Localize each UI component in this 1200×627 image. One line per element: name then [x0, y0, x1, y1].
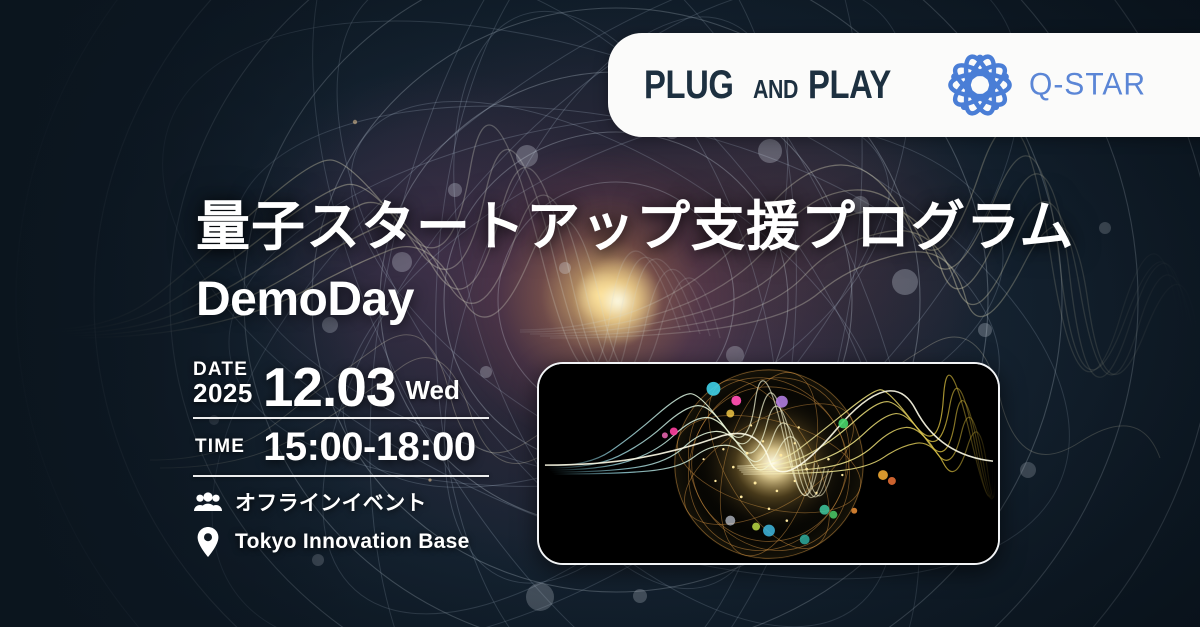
- venue-text: Tokyo Innovation Base: [235, 530, 470, 554]
- map-pin-icon: [193, 527, 223, 557]
- atom-orbital-icon: [943, 48, 1017, 122]
- people-group-icon: [193, 492, 223, 512]
- plug-and-play-part2: AND: [753, 74, 798, 105]
- event-details: DATE 2025 12.03 Wed TIME 15:00-18:00: [193, 360, 489, 557]
- venue-row: Tokyo Innovation Base: [193, 527, 489, 557]
- page-title: 量子スタートアップ支援プログラム: [196, 182, 1074, 261]
- format-text: オフラインイベント: [235, 487, 427, 517]
- time-row: TIME 15:00-18:00: [193, 419, 489, 475]
- qstar-logo: Q-STAR: [943, 48, 1146, 122]
- logo-bar: PLUG AND PLAY Q-STAR: [608, 33, 1200, 137]
- visual-card: [537, 362, 1000, 565]
- qstar-label: Q-STAR: [1029, 67, 1146, 103]
- date-label: DATE: [193, 360, 253, 380]
- divider-top: [193, 417, 489, 419]
- card-artwork: [539, 364, 998, 565]
- page-subtitle: DemoDay: [196, 272, 414, 327]
- time-label: TIME: [195, 436, 245, 458]
- date-value: 12.03: [263, 362, 396, 413]
- event-banner: PLUG AND PLAY Q-STAR: [0, 0, 1200, 627]
- plug-and-play-part1: PLUG: [644, 63, 733, 108]
- date-year: 2025: [193, 380, 253, 407]
- date-weekday: Wed: [405, 375, 459, 413]
- plug-and-play-part3: PLAY: [808, 63, 891, 108]
- format-row: オフラインイベント: [193, 487, 489, 517]
- plug-and-play-logo: PLUG AND PLAY: [644, 63, 909, 108]
- divider-bottom: [193, 475, 489, 477]
- time-value: 15:00-18:00: [263, 425, 475, 470]
- date-labels: DATE 2025: [193, 360, 253, 413]
- date-row: DATE 2025 12.03 Wed: [193, 360, 489, 417]
